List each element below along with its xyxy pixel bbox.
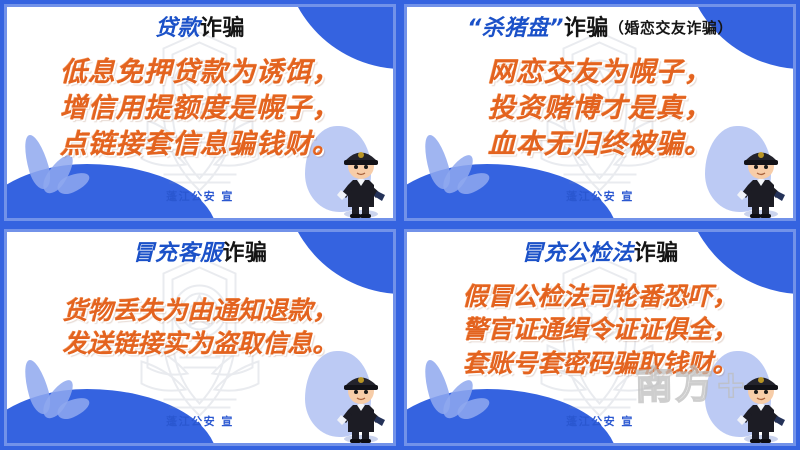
panel-title: 贷款诈骗 (7, 17, 393, 41)
police-officer-mascot-icon (731, 365, 789, 443)
panel-title-keyword: 贷款 (155, 16, 200, 41)
panel-title-keyword: 冒充客服 (132, 241, 222, 266)
slogan-line: 假冒公检法司轮番恐吓， (413, 280, 787, 313)
slogan-line: 货物丢失为由通知退款， (13, 294, 387, 327)
poster-panel-fake-law-enforcement-fraud: 冒充公检法诈骗 假冒公检法司轮番恐吓， 警官证通缉令证证俱全， 套账号套密码骗取… (400, 225, 800, 450)
poster-panel-loan-fraud: 贷款诈骗 低息免押贷款为诱饵， 增信用提额度是幌子， 点链接套信息骗钱财。 蓬江… (0, 0, 400, 225)
panel-title-keyword: “杀猪盘” (467, 16, 564, 41)
panel-canvas: 贷款诈骗 低息免押贷款为诱饵， 增信用提额度是幌子， 点链接套信息骗钱财。 蓬江… (7, 7, 393, 218)
anti-fraud-poster-grid: 贷款诈骗 低息免押贷款为诱饵， 增信用提额度是幌子， 点链接套信息骗钱财。 蓬江… (0, 0, 800, 450)
slogan-line: 发送链接实为盗取信息。 (13, 327, 387, 360)
poster-panel-fake-customer-service-fraud: 冒充客服诈骗 货物丢失为由通知退款， 发送链接实为盗取信息。 蓬江公安 宣 (0, 225, 400, 450)
panel-title-keyword: 冒充公检法 (521, 241, 634, 266)
slogan-line: 警官证通缉令证证俱全， (413, 313, 787, 346)
slogan-line: 网恋交友为幌子， (413, 55, 787, 91)
panel-title-suffix: 诈骗 (564, 16, 609, 41)
panel-canvas: 冒充客服诈骗 货物丢失为由通知退款， 发送链接实为盗取信息。 蓬江公安 宣 (7, 232, 393, 443)
panel-title-suffix: 诈骗 (634, 241, 679, 266)
panel-canvas: 冒充公检法诈骗 假冒公检法司轮番恐吓， 警官证通缉令证证俱全， 套账号套密码骗取… (407, 232, 793, 443)
poster-panel-pig-butchering-fraud: “杀猪盘”诈骗（婚恋交友诈骗） 网恋交友为幌子， 投资赌博才是真， 血本无归终被… (400, 0, 800, 225)
slogan-line: 投资赌博才是真， (413, 91, 787, 127)
panel-canvas: “杀猪盘”诈骗（婚恋交友诈骗） 网恋交友为幌子， 投资赌博才是真， 血本无归终被… (407, 7, 793, 218)
police-officer-mascot-icon (731, 140, 789, 218)
panel-title: 冒充公检法诈骗 (407, 242, 793, 266)
panel-slogan: 货物丢失为由通知退款， 发送链接实为盗取信息。 (7, 294, 393, 361)
panel-title-parenthetical: （婚恋交友诈骗） (609, 19, 733, 37)
police-officer-mascot-icon (331, 140, 389, 218)
panel-title-suffix: 诈骗 (200, 16, 245, 41)
panel-title: “杀猪盘”诈骗（婚恋交友诈骗） (407, 17, 793, 41)
panel-title: 冒充客服诈骗 (7, 242, 393, 266)
slogan-line: 低息免押贷款为诱饵， (13, 55, 387, 91)
panel-title-suffix: 诈骗 (223, 241, 268, 266)
slogan-line: 增信用提额度是幌子， (13, 91, 387, 127)
police-officer-mascot-icon (331, 365, 389, 443)
